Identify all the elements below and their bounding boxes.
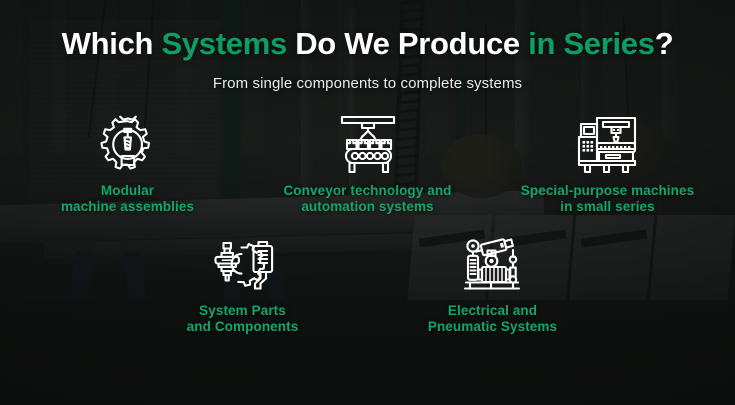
headline-part-2: Systems [161,26,286,61]
headline-part-1: Which [62,26,162,61]
headline-part-5: ? [655,26,674,61]
category-card-electrical-pneumatic-systems[interactable]: Electrical and Pneumatic Systems [368,232,618,336]
category-row-bottom: System Parts and Components [0,232,735,336]
category-label: System Parts and Components [187,303,299,336]
category-row-top: Modular machine assemblies [0,112,735,216]
sparkplug-gear-parts-icon [207,232,279,298]
slide-content: Which Systems Do We Produce in Series? F… [0,0,735,405]
category-card-special-purpose-machines[interactable]: Special-purpose machines in small series [488,112,728,216]
page-subtitle: From single components to complete syste… [0,75,735,92]
category-label: Conveyor technology and automation syste… [283,183,451,216]
page-title: Which Systems Do We Produce in Series? [0,27,735,60]
headline-part-3: Do We Produce [287,26,528,61]
headline-part-4: in Series [528,26,655,61]
category-card-system-parts-components[interactable]: System Parts and Components [118,232,368,336]
category-card-conveyor-automation[interactable]: Conveyor technology and automation syste… [248,112,488,216]
slide-root: Which Systems Do We Produce in Series? F… [0,0,735,405]
pneumatic-system-icon [457,232,529,298]
category-label: Modular machine assemblies [61,183,194,216]
category-label: Special-purpose machines in small series [521,183,694,216]
category-card-modular-machine-assemblies[interactable]: Modular machine assemblies [8,112,248,216]
gear-drill-icon [92,112,164,178]
cnc-machine-icon [572,112,644,178]
conveyor-automation-icon [332,112,404,178]
category-label: Electrical and Pneumatic Systems [428,303,557,336]
